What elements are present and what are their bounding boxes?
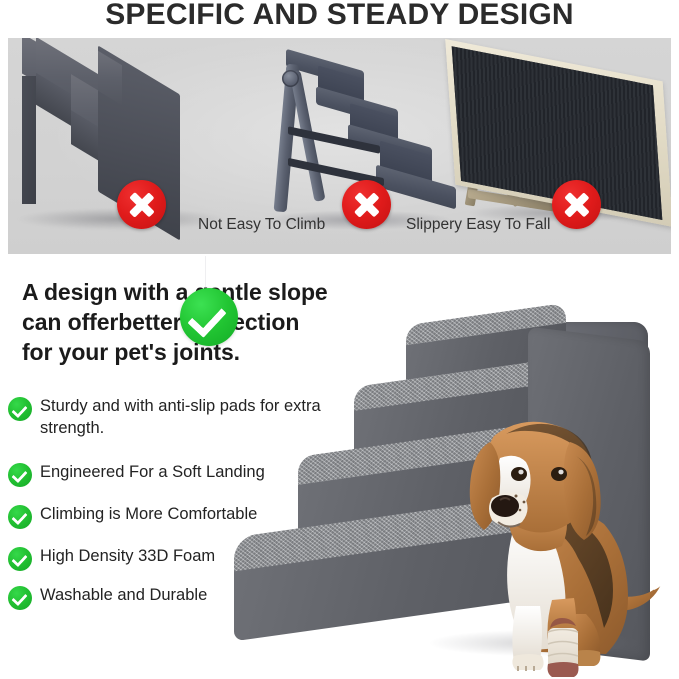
- green-check-icon: [8, 397, 32, 421]
- page-title: SPECIFIC AND STEADY DESIGN: [0, 0, 679, 33]
- dog-illustration: [420, 400, 670, 679]
- bullet-label: High Density 33D Foam: [40, 546, 215, 568]
- green-check-icon: [8, 463, 32, 487]
- green-check-icon: [8, 505, 32, 529]
- caption-not-easy-to-climb: Not Easy To Climb: [198, 216, 325, 234]
- red-x-badge-2: [342, 180, 391, 229]
- infographic-stage: SPECIFIC AND STEADY DESIGN: [0, 0, 679, 679]
- red-x-badge-3: [552, 180, 601, 229]
- step-side-1: [22, 76, 36, 204]
- bullet-label: Climbing is More Comfortable: [40, 504, 257, 526]
- bullet-label: Washable and Durable: [40, 585, 207, 607]
- red-x-badge-1: [117, 180, 166, 229]
- rejected-alternatives-panel: Not Easy To Climb Slippery Easy To Fall: [8, 38, 671, 254]
- recommended-product-panel: A design with a gentle slope can offerbe…: [0, 256, 679, 679]
- green-check-badge: [180, 288, 238, 346]
- beagle-dog-with-bandaged-leg: [420, 400, 670, 679]
- hinge-knob-icon: [282, 70, 299, 87]
- caption-slippery-easy-to-fall: Slippery Easy To Fall: [406, 216, 550, 234]
- green-check-icon: [8, 547, 32, 571]
- green-check-icon: [8, 586, 32, 610]
